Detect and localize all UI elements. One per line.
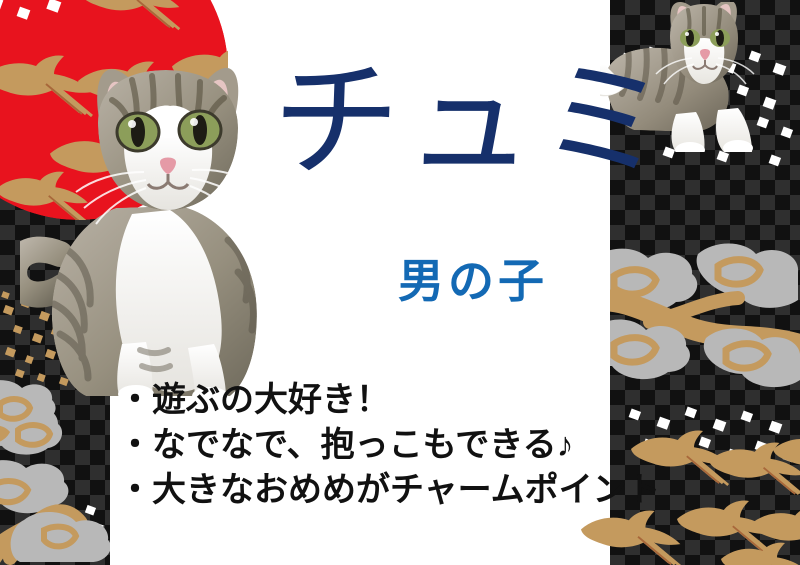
page-title: チュミ	[270, 58, 676, 186]
pet-profile-poster: チュミ 男の子 ・遊ぶの大好き！ ・なでなで、抱っこもできる♪ ・大きなおめめが…	[0, 0, 800, 565]
subtitle-gender: 男の子	[398, 258, 548, 304]
list-item: ・なでなで、抱っこもできる♪	[118, 423, 661, 468]
list-item: ・大きなおめめがチャームポイント	[118, 468, 661, 513]
trait-list: ・遊ぶの大好き！ ・なでなで、抱っこもできる♪ ・大きなおめめがチャームポイント	[118, 378, 661, 513]
list-item: ・遊ぶの大好き！	[118, 378, 661, 423]
